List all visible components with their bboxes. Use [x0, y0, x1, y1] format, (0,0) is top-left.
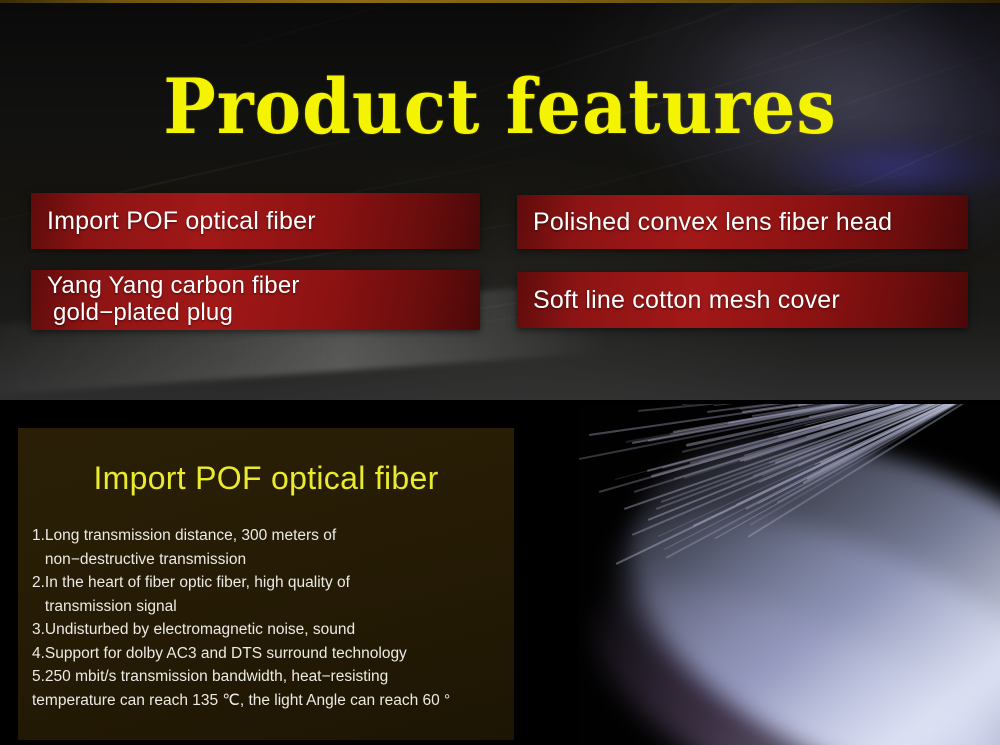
- feature-banner-label: Soft line cotton mesh cover: [533, 286, 840, 314]
- feature-banner-import-pof-optical-fiber[interactable]: Import POF optical fiber: [31, 193, 480, 249]
- spec-list-item: 5.250 mbit/s transmission bandwidth, hea…: [32, 665, 502, 689]
- spec-list-item: 3.Undisturbed by electromagnetic noise, …: [32, 618, 502, 642]
- spec-list-item: 2.In the heart of fiber optic fiber, hig…: [32, 571, 502, 618]
- spec-list-item: 1.Long transmission distance, 300 meters…: [32, 524, 502, 571]
- feature-banner-label: Polished convex lens fiber head: [533, 208, 892, 236]
- hero-section: Product features Import POF optical fibe…: [0, 3, 1000, 400]
- product-features-page: Product features Import POF optical fibe…: [0, 0, 1000, 745]
- spec-panel: Import POF optical fiber 1.Long transmis…: [18, 428, 514, 740]
- feature-banner-label-line1: Yang Yang carbon fiber: [47, 273, 300, 300]
- bottom-section: Import POF optical fiber 1.Long transmis…: [0, 400, 1000, 745]
- spec-list-item: temperature can reach 135 ℃, the light A…: [32, 689, 502, 713]
- feature-banner-label: Import POF optical fiber: [47, 207, 316, 235]
- feature-banner-polished-convex-lens-fiber-head[interactable]: Polished convex lens fiber head: [517, 195, 968, 249]
- feature-banner-label-group: Yang Yang carbon fiber gold−plated plug: [47, 273, 300, 327]
- spec-panel-heading: Import POF optical fiber: [18, 460, 514, 497]
- spec-panel-list: 1.Long transmission distance, 300 meters…: [32, 524, 502, 712]
- spec-list-item: 4.Support for dolby AC3 and DTS surround…: [32, 642, 502, 666]
- feature-banner-label-line2: gold−plated plug: [47, 300, 300, 327]
- fiber-optic-image-panel: [572, 400, 1000, 745]
- feature-banner-yang-yang-carbon-fiber-gold-plated-plug[interactable]: Yang Yang carbon fiber gold−plated plug: [31, 270, 480, 330]
- page-title: Product features: [40, 65, 960, 149]
- fiber-optic-photo: [578, 404, 1000, 745]
- feature-banner-soft-line-cotton-mesh-cover[interactable]: Soft line cotton mesh cover: [517, 272, 968, 328]
